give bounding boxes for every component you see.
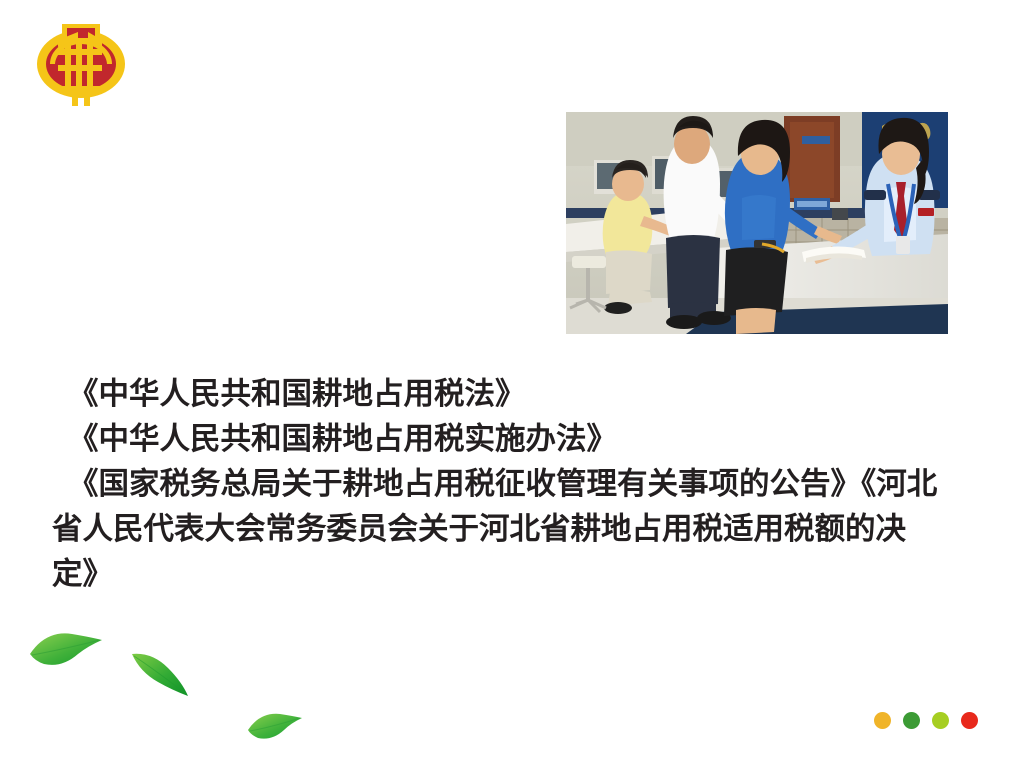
decorative-dot-group <box>874 712 978 729</box>
dot-amber <box>874 712 891 729</box>
leaf-medium-icon <box>130 644 192 698</box>
leaf-large-icon <box>28 628 104 672</box>
state-taxation-administration-emblem <box>36 16 126 108</box>
dot-light-green <box>932 712 949 729</box>
policy-document-list: 《中华人民共和国耕地占用税法》 《中华人民共和国耕地占用税实施办法》 《国家税务… <box>52 372 940 597</box>
tax-service-counter-photo <box>566 112 948 334</box>
dot-green <box>903 712 920 729</box>
policy-line-flow: 《国家税务总局关于耕地占用税征收管理有关事项的公告》《河北省人民代表大会常务委员… <box>52 462 940 597</box>
leaf-small-icon <box>246 708 304 744</box>
policy-line-1: 《中华人民共和国耕地占用税法》 <box>52 372 940 417</box>
policy-line-2: 《中华人民共和国耕地占用税实施办法》 <box>52 417 940 462</box>
slide-canvas: 《中华人民共和国耕地占用税法》 《中华人民共和国耕地占用税实施办法》 《国家税务… <box>0 0 1024 768</box>
dot-red <box>961 712 978 729</box>
